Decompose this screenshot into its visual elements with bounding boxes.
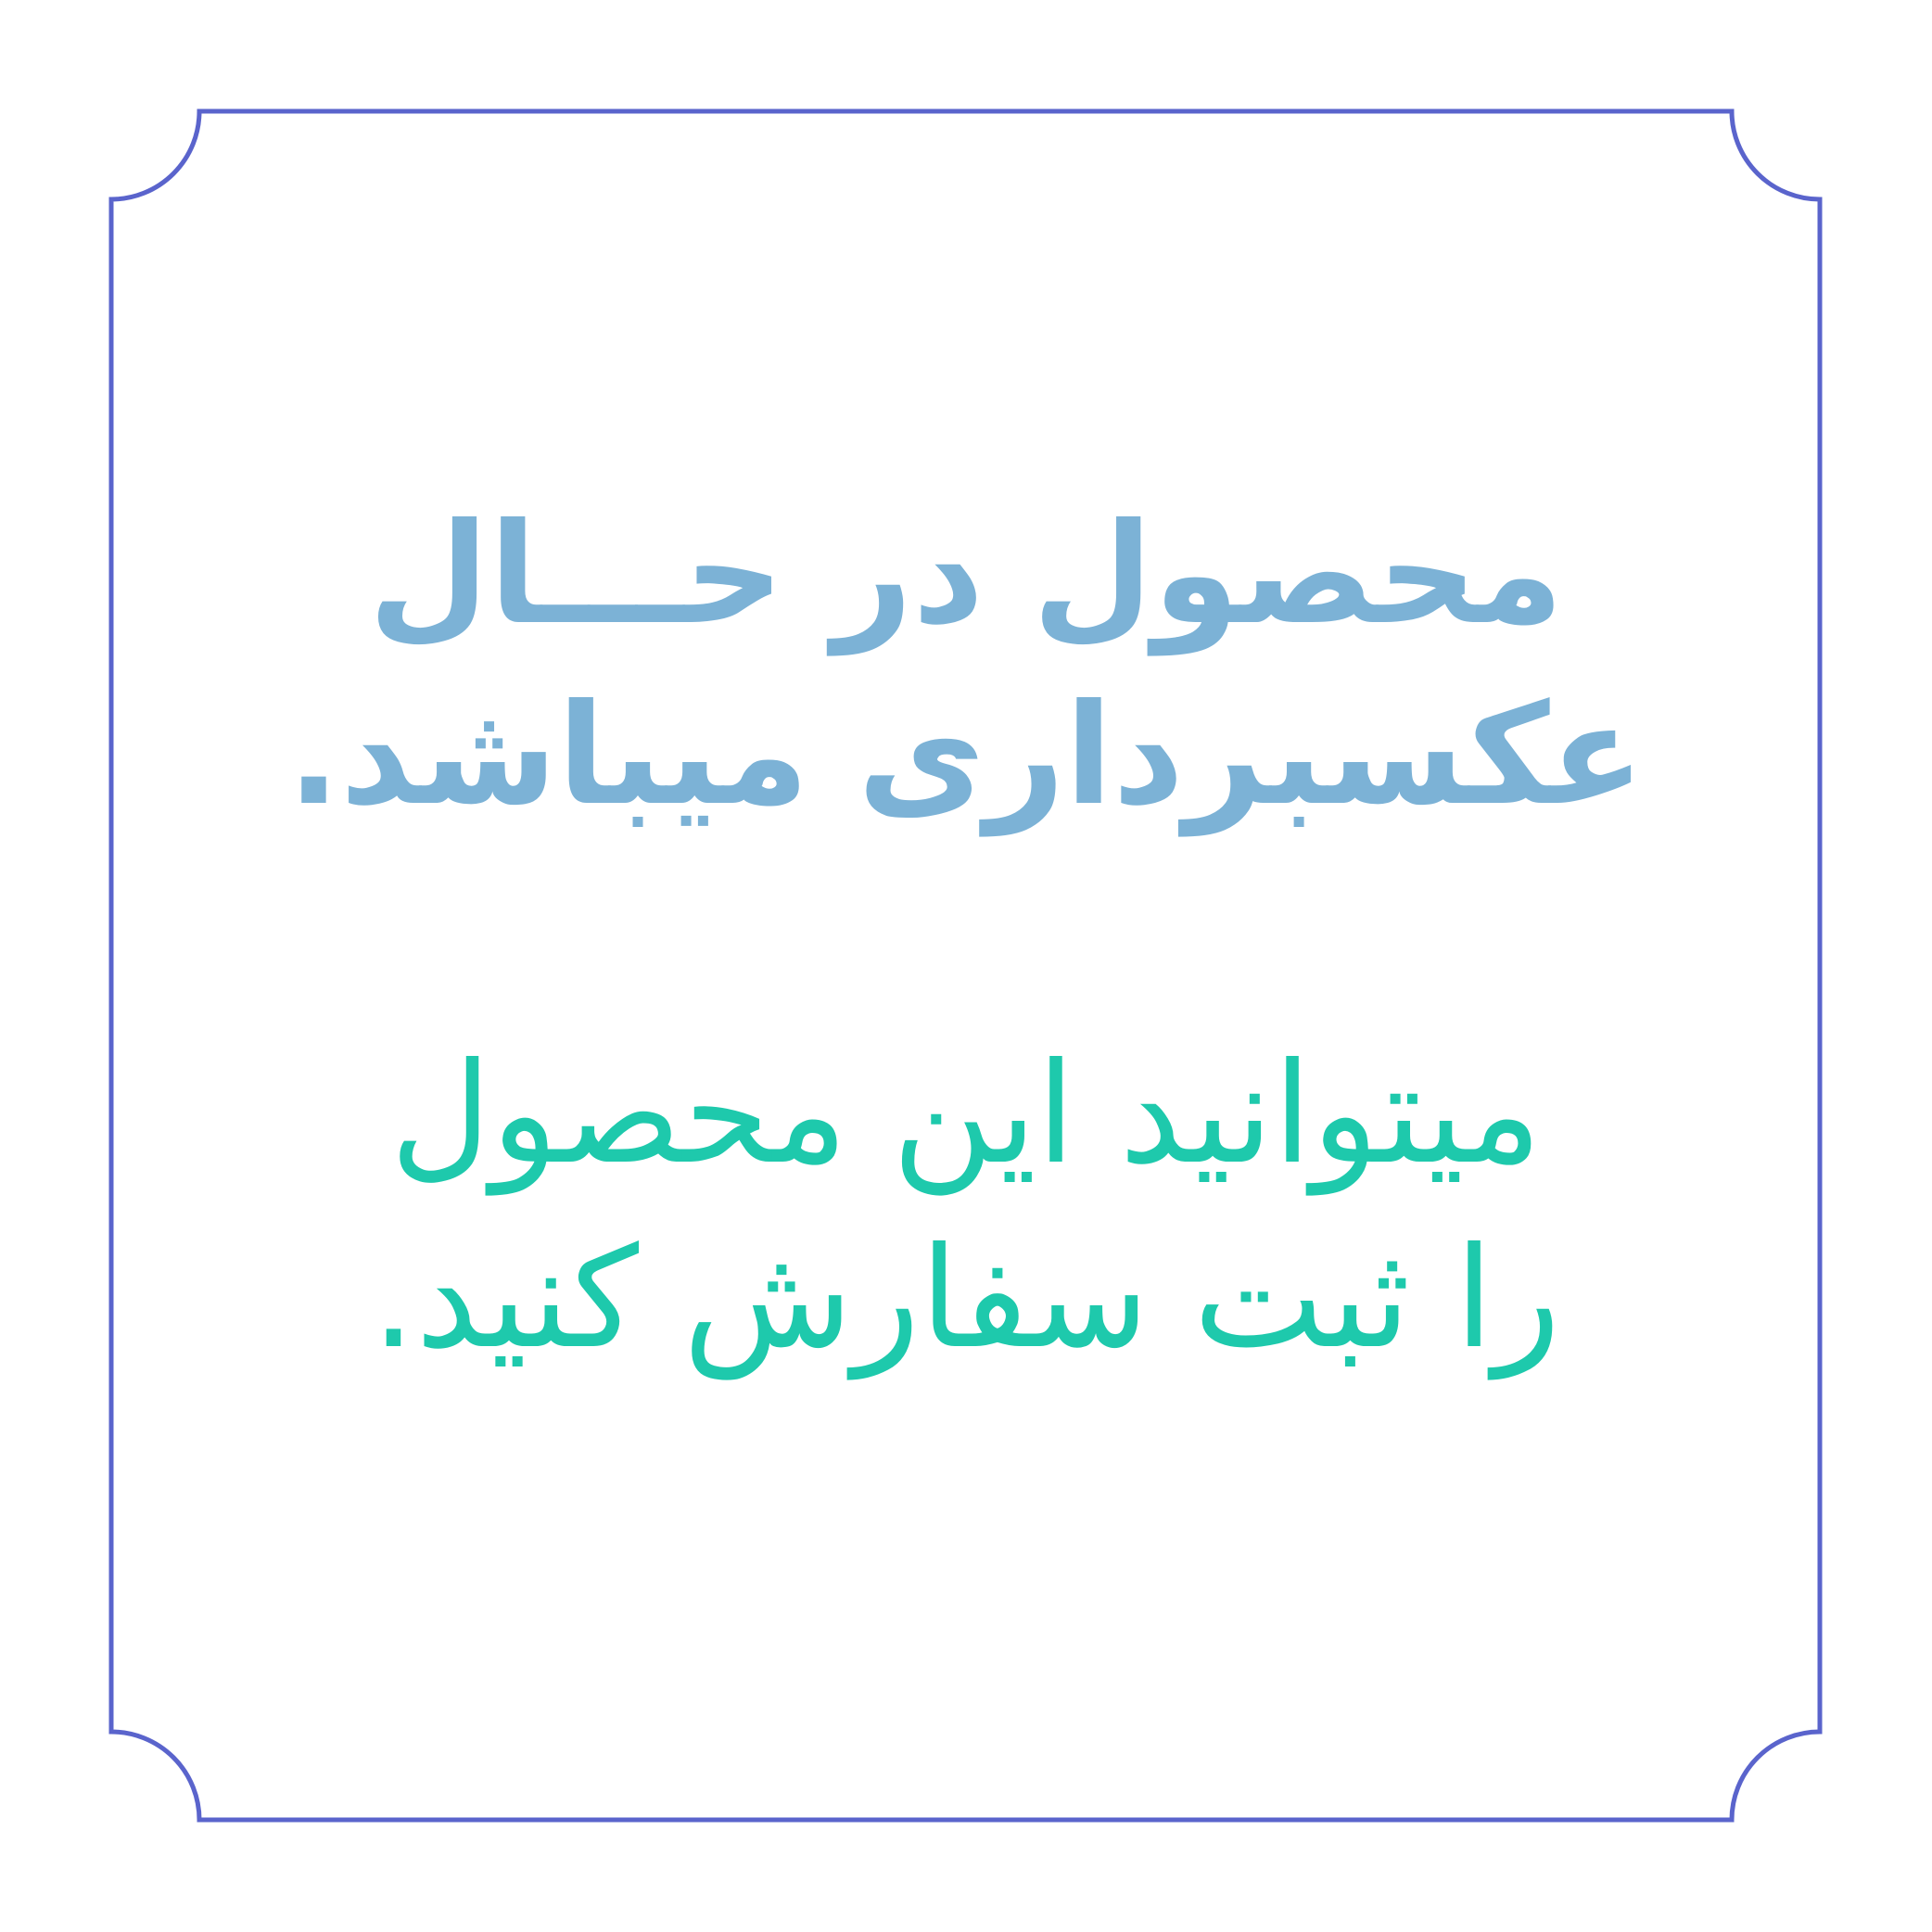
order-cta-message: میتوانید این محصول را ثبت سفارش کنید. — [121, 1023, 1811, 1392]
order-cta-message-line-2: را ثبت سفارش کنید. — [121, 1207, 1811, 1392]
order-cta-message-line-1: میتوانید این محصول — [121, 1023, 1811, 1208]
message-stack: محصول در حـــال عکسبرداری میباشد. میتوان… — [121, 0, 1811, 1932]
placeholder-card: محصول در حـــال عکسبرداری میباشد. میتوان… — [0, 0, 1932, 1932]
status-message-line-2: عکسبرداری میباشد. — [121, 666, 1811, 846]
status-message-line-1: محصول در حـــال — [121, 485, 1811, 666]
status-message: محصول در حـــال عکسبرداری میباشد. — [121, 485, 1811, 846]
